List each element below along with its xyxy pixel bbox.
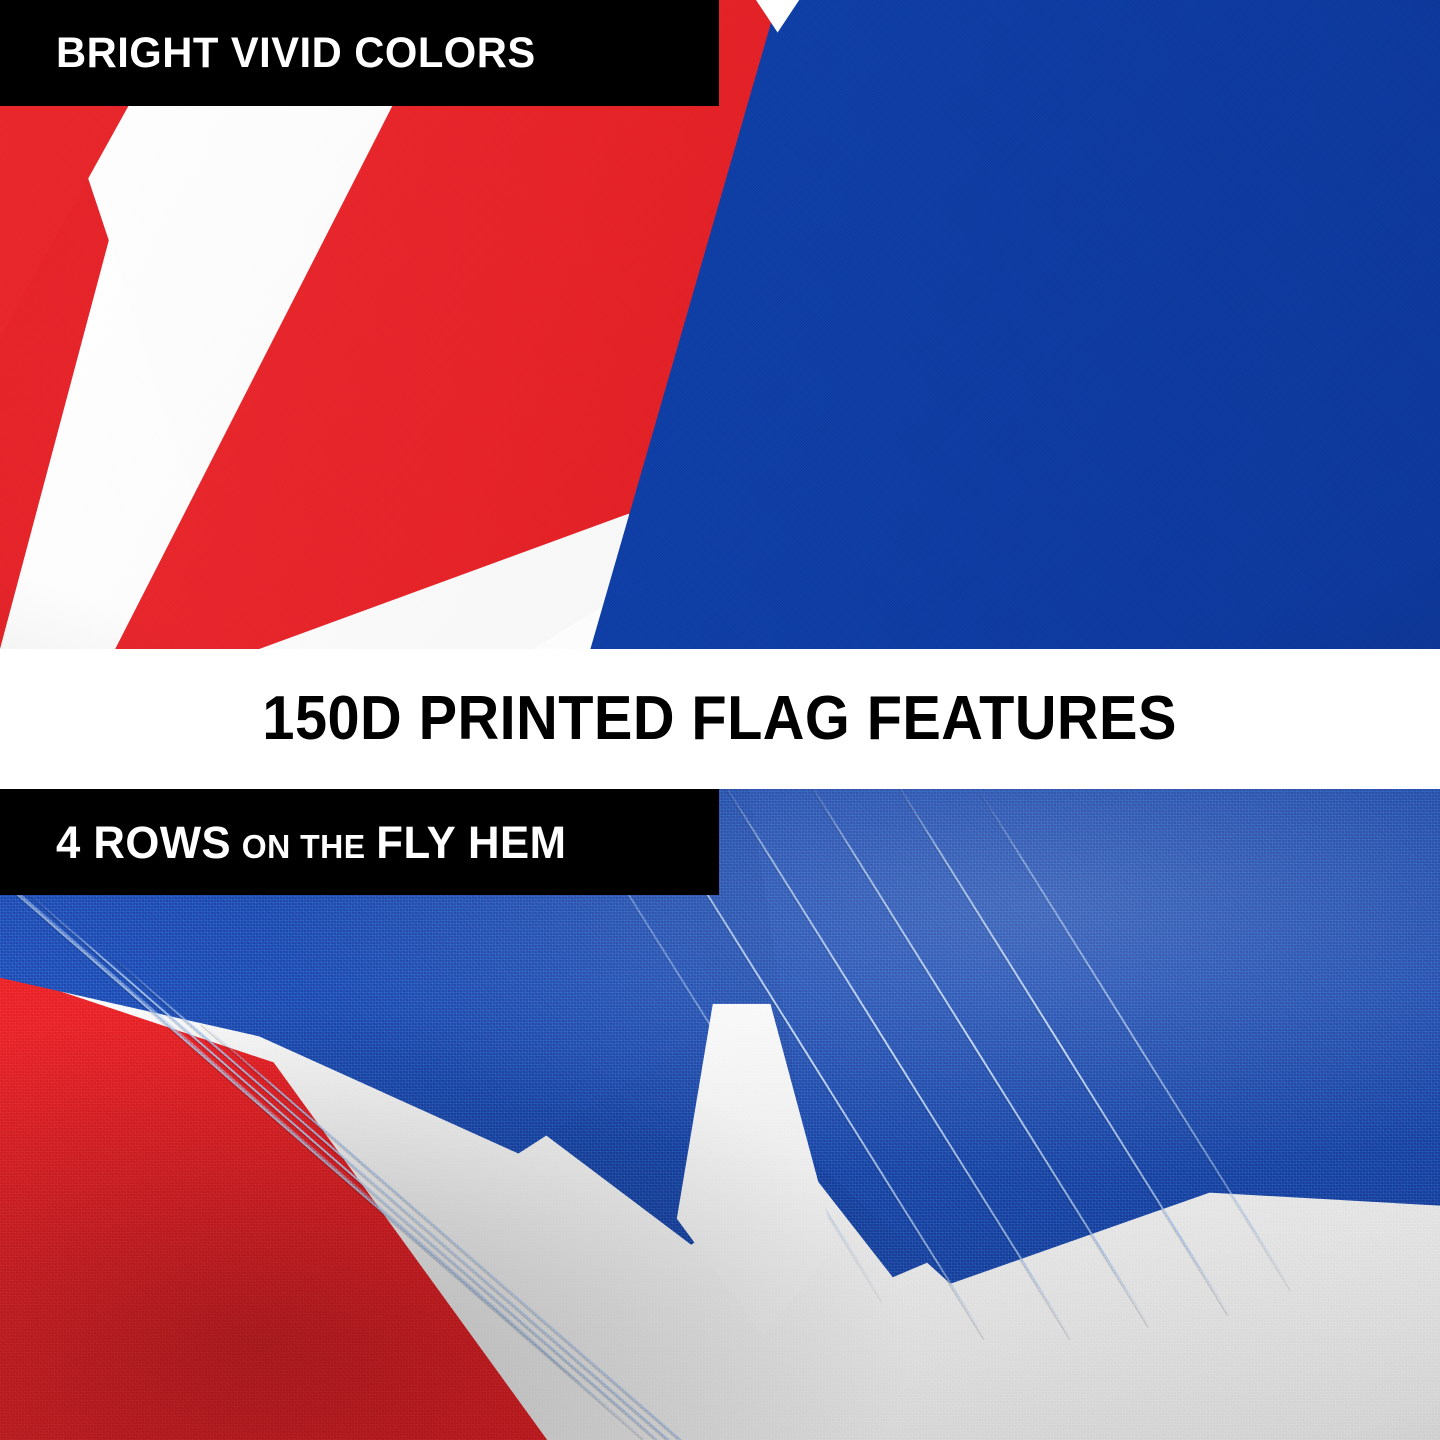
banner-bottom-trail: FLY HEM: [376, 820, 566, 865]
banner-bottom-small: ON THE: [242, 830, 366, 863]
middle-title-band: 150D PRINTED FLAG FEATURES: [0, 649, 1440, 789]
banner-four-rows-fly-hem: 4 ROWS ON THE FLY HEM: [0, 789, 719, 895]
banner-bright-vivid-colors: BRIGHT VIVID COLORS: [0, 0, 719, 106]
product-feature-graphic: BRIGHT VIVID COLORS 150D PRINTED FLAG FE…: [0, 0, 1440, 1440]
banner-top-label: BRIGHT VIVID COLORS: [56, 32, 536, 75]
banner-bottom-label: 4 ROWS ON THE FLY HEM: [56, 820, 566, 865]
page-title: 150D PRINTED FLAG FEATURES: [263, 688, 1177, 750]
banner-bottom-lead: 4 ROWS: [56, 820, 231, 865]
